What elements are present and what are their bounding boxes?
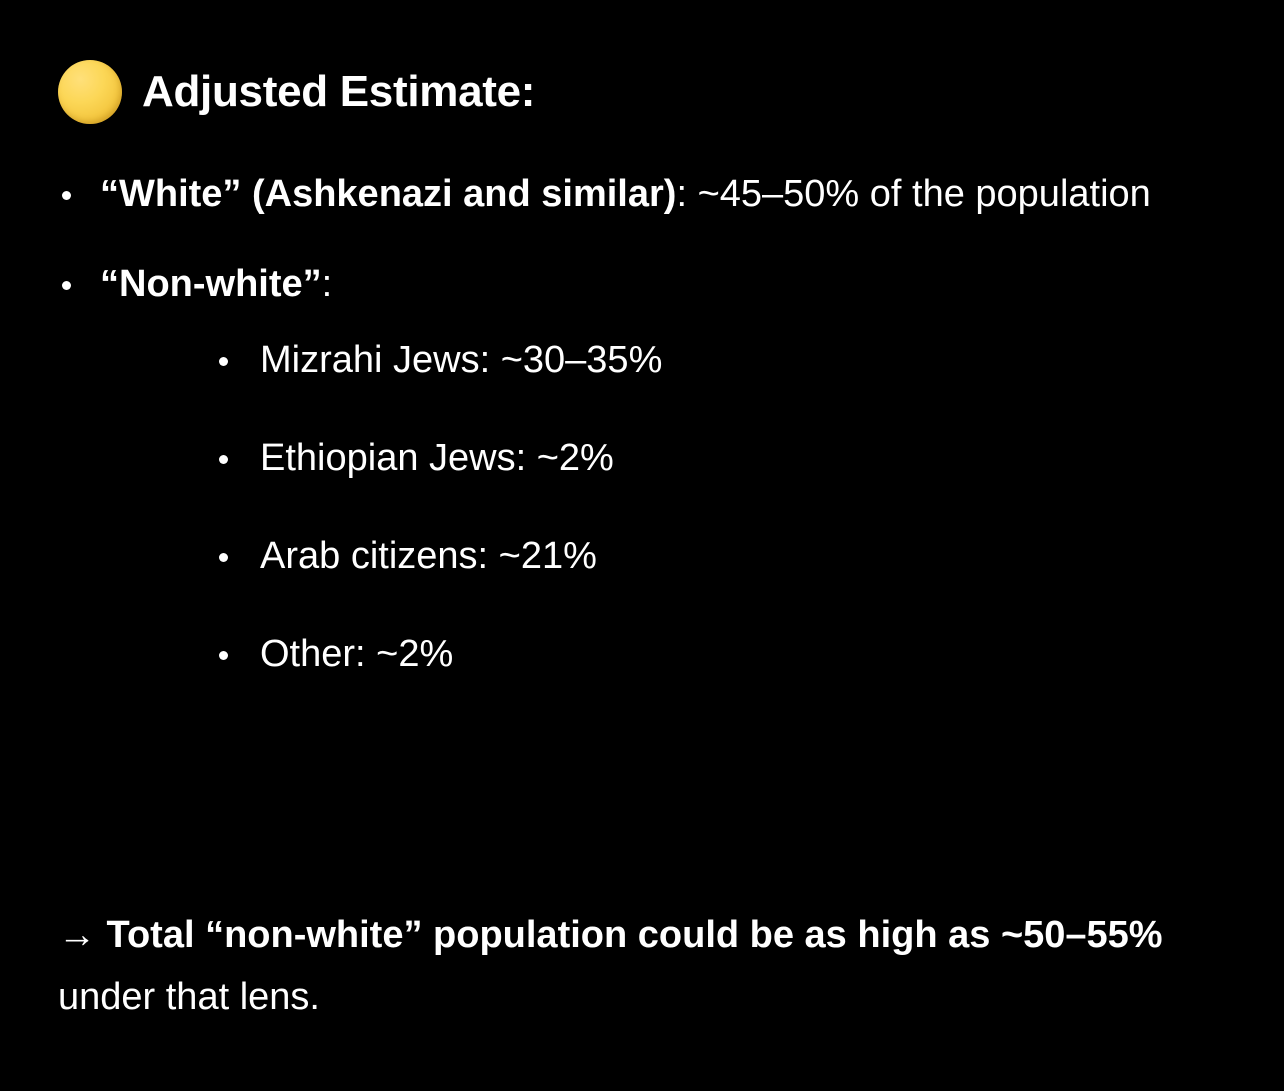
- slide-root: Adjusted Estimate: “White” (Ashkenazi an…: [0, 0, 1284, 1091]
- list-item: “Non-white”: Mizrahi Jews: ~30–35% Ethio…: [0, 258, 1284, 682]
- list-item: Arab citizens: ~21%: [100, 530, 1204, 584]
- conclusion-rest-text: under that lens.: [58, 976, 320, 1018]
- bullet-dot-icon: [62, 191, 71, 200]
- conclusion-bold-text: Total “non-white” population could be as…: [96, 914, 1163, 956]
- list-item: “White” (Ashkenazi and similar): ~45–50%…: [0, 168, 1284, 222]
- list-item-label: “Non-white”: [100, 263, 322, 305]
- page-title: Adjusted Estimate:: [58, 60, 535, 124]
- bullet-dot-icon: [219, 455, 228, 464]
- page-title-text: Adjusted Estimate:: [142, 68, 535, 116]
- list-item: Ethiopian Jews: ~2%: [100, 432, 1204, 486]
- bullet-list: “White” (Ashkenazi and similar): ~45–50%…: [0, 168, 1284, 726]
- list-item-value: :: [322, 263, 333, 305]
- bullet-dot-icon: [219, 553, 228, 562]
- bullet-dot-icon: [219, 651, 228, 660]
- sub-list-item-text: Ethiopian Jews: ~2%: [260, 437, 614, 479]
- bullet-dot-icon: [62, 281, 71, 290]
- bullet-dot-icon: [219, 357, 228, 366]
- conclusion-paragraph: → Total “non-white” population could be …: [58, 905, 1178, 1028]
- sub-list-item-text: Arab citizens: ~21%: [260, 535, 597, 577]
- right-arrow-icon: →: [58, 914, 96, 956]
- list-item-label: “White” (Ashkenazi and similar): [100, 173, 676, 215]
- sub-list-item-text: Other: ~2%: [260, 633, 453, 675]
- list-item-value: : ~45–50% of the population: [676, 173, 1150, 215]
- sub-list-item-text: Mizrahi Jews: ~30–35%: [260, 339, 662, 381]
- yellow-circle-icon: [58, 60, 122, 124]
- sub-bullet-list: Mizrahi Jews: ~30–35% Ethiopian Jews: ~2…: [100, 334, 1204, 682]
- list-item: Other: ~2%: [100, 628, 1204, 682]
- list-item: Mizrahi Jews: ~30–35%: [100, 334, 1204, 388]
